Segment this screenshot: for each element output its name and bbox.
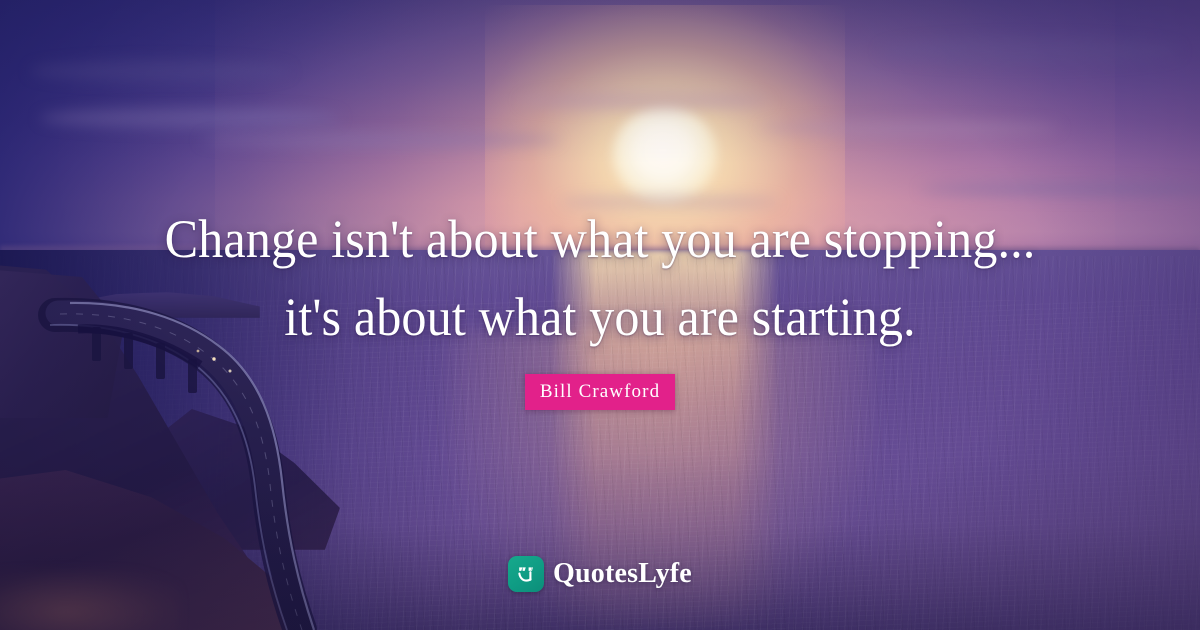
brand-logo[interactable]: QuotesLyfe: [0, 556, 1200, 592]
quote-line-1: Change isn't about what you are stopping…: [144, 204, 1055, 276]
author-badge: Bill Crawford: [525, 374, 675, 410]
quote-text: Change isn't about what you are stopping…: [42, 204, 1158, 354]
quote-card: Change isn't about what you are stopping…: [0, 0, 1200, 630]
quote-mark-icon: [508, 556, 544, 592]
brand-name: QuotesLyfe: [553, 558, 692, 590]
author-container: Bill Crawford: [0, 374, 1200, 410]
card-content: Change isn't about what you are stopping…: [0, 0, 1200, 630]
quote-line-2: it's about what you are starting.: [144, 282, 1055, 354]
